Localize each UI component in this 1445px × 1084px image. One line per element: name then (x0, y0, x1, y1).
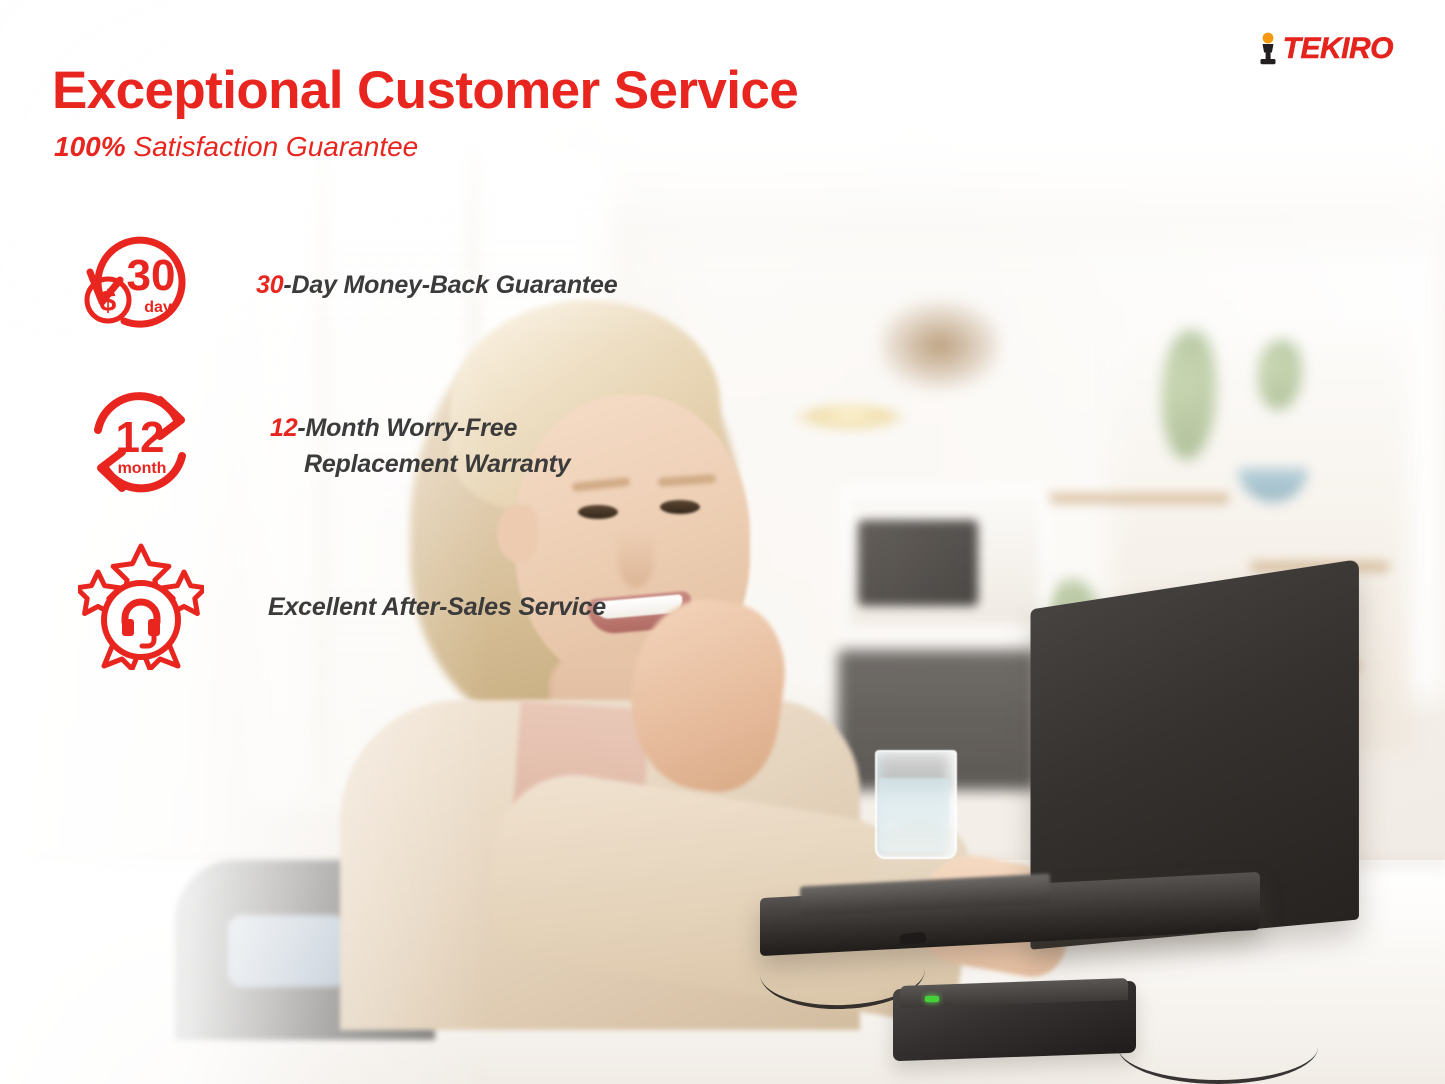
icon-value-small: month (118, 460, 167, 477)
feature-money-back-label: 30-Day Money-Back Guarantee (256, 268, 617, 304)
icon-value-small: day (144, 299, 172, 316)
customer-service-banner: TEKIRO Exceptional Customer Service 100%… (0, 0, 1445, 1084)
after-sales-service-badge-icon (78, 540, 204, 675)
feature-3-rest: Excellent After-Sales Service (268, 593, 606, 621)
feature-2-line2: Replacement Warranty (270, 447, 570, 483)
replacement-warranty-12-month-icon: 12 month (78, 386, 204, 507)
money-back-30-day-icon: $ 30 day (78, 228, 206, 343)
feature-after-sales: Excellent After-Sales Service (78, 540, 606, 675)
icon-value-big: 30 (127, 251, 176, 300)
feature-1-highlight: 30 (256, 271, 283, 299)
feature-after-sales-label: Excellent After-Sales Service (268, 590, 606, 626)
feature-1-rest: -Day Money-Back Guarantee (283, 271, 617, 299)
feature-2-rest: -Month Worry-Free (297, 414, 517, 442)
feature-warranty-label: 12-Month Worry-Free Replacement Warranty (270, 411, 570, 482)
feature-2-highlight: 12 (270, 414, 297, 442)
svg-text:$: $ (100, 285, 117, 318)
feature-warranty: 12 month 12-Month Worry-Free Replacement… (78, 386, 570, 507)
feature-list: $ 30 day 30-Day Money-Back Guarantee (0, 0, 1445, 1084)
icon-value-big: 12 (116, 413, 165, 462)
feature-money-back: $ 30 day 30-Day Money-Back Guarantee (78, 228, 617, 343)
